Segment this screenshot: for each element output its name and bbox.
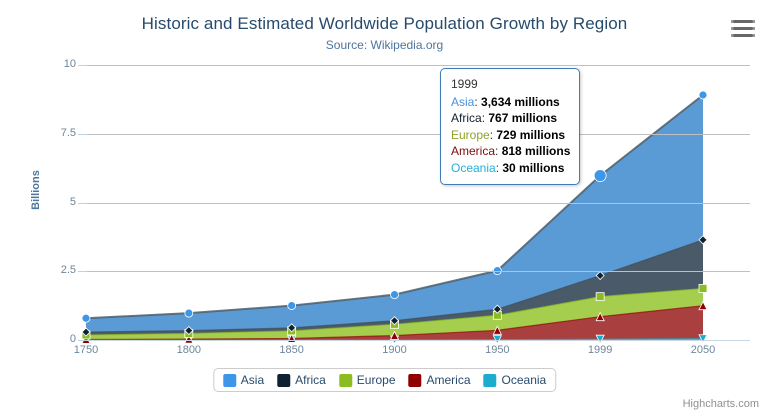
tooltip-row-africa: Africa: 767 millions bbox=[451, 110, 570, 127]
tooltip-row-america: America: 818 millions bbox=[451, 143, 570, 160]
tooltip-series-value: 818 millions bbox=[502, 144, 571, 158]
tooltip-header: 1999 bbox=[451, 76, 570, 93]
point-europe-2050[interactable] bbox=[699, 284, 707, 292]
gridline-y-7.5 bbox=[86, 134, 750, 135]
tooltip-series-name: America bbox=[451, 144, 495, 158]
y-axis-tick bbox=[78, 134, 87, 135]
tooltip-series-name: Asia bbox=[451, 95, 474, 109]
menu-bar-2 bbox=[733, 27, 753, 30]
tooltip-row-oceania: Oceania: 30 millions bbox=[451, 160, 570, 177]
y-axis-tick bbox=[78, 203, 87, 204]
point-asia-2050[interactable] bbox=[699, 91, 707, 99]
point-europe-1999[interactable] bbox=[596, 293, 604, 301]
legend-item-europe[interactable]: Europe bbox=[339, 373, 396, 387]
y-axis-label-2.5: 2.5 bbox=[28, 264, 76, 276]
x-axis-line bbox=[86, 340, 750, 341]
legend-swatch-america bbox=[409, 374, 422, 387]
x-axis-label-1750: 1750 bbox=[56, 344, 116, 356]
legend-label: Africa bbox=[295, 373, 326, 387]
legend: AsiaAfricaEuropeAmericaOceania bbox=[213, 368, 556, 392]
legend-label: Europe bbox=[357, 373, 396, 387]
point-asia-1750[interactable] bbox=[82, 314, 90, 322]
y-axis-label-7.5: 7.5 bbox=[28, 127, 76, 139]
gridline-y-10 bbox=[86, 65, 750, 66]
legend-item-africa[interactable]: Africa bbox=[277, 373, 326, 387]
gridline-y-2.5 bbox=[86, 271, 750, 272]
x-axis-label-1950: 1950 bbox=[467, 344, 527, 356]
legend-item-oceania[interactable]: Oceania bbox=[484, 373, 547, 387]
gridline-y-5 bbox=[86, 203, 750, 204]
tooltip-separator: : bbox=[474, 95, 481, 109]
highcharts-container: Historic and Estimated Worldwide Populat… bbox=[0, 0, 769, 416]
tooltip-series-name: Europe bbox=[451, 128, 490, 142]
y-axis-tick bbox=[78, 65, 87, 66]
legend-swatch-africa bbox=[277, 374, 290, 387]
x-axis-label-1900: 1900 bbox=[365, 344, 425, 356]
tooltip-series-value: 3,634 millions bbox=[481, 95, 560, 109]
point-asia-1999[interactable] bbox=[594, 170, 606, 182]
tooltip-series-value: 729 millions bbox=[496, 128, 565, 142]
tooltip-row-asia: Asia: 3,634 millions bbox=[451, 94, 570, 111]
tooltip-rows: Asia: 3,634 millionsAfrica: 767 millions… bbox=[451, 94, 570, 177]
legend-swatch-asia bbox=[223, 374, 236, 387]
legend-label: Oceania bbox=[502, 373, 547, 387]
legend-label: Asia bbox=[241, 373, 264, 387]
point-asia-1900[interactable] bbox=[391, 291, 399, 299]
legend-swatch-europe bbox=[339, 374, 352, 387]
x-axis-label-2050: 2050 bbox=[673, 344, 733, 356]
x-axis-label-1800: 1800 bbox=[159, 344, 219, 356]
x-axis-label-1850: 1850 bbox=[262, 344, 322, 356]
hamburger-menu-icon[interactable] bbox=[731, 17, 755, 39]
plot-area bbox=[86, 65, 750, 340]
tooltip-separator: : bbox=[495, 144, 502, 158]
y-axis-tick bbox=[78, 271, 87, 272]
x-axis-label-1999: 1999 bbox=[570, 344, 630, 356]
legend-item-america[interactable]: America bbox=[409, 373, 471, 387]
y-axis-label-5: 5 bbox=[28, 196, 76, 208]
y-axis-title: Billions bbox=[30, 145, 42, 235]
legend-label: America bbox=[427, 373, 471, 387]
tooltip-series-name: Africa bbox=[451, 111, 482, 125]
tooltip: 1999 Asia: 3,634 millionsAfrica: 767 mil… bbox=[440, 68, 580, 185]
legend-item-asia[interactable]: Asia bbox=[223, 373, 264, 387]
tooltip-series-name: Oceania bbox=[451, 161, 496, 175]
tooltip-row-europe: Europe: 729 millions bbox=[451, 127, 570, 144]
menu-bar-3 bbox=[733, 34, 753, 37]
tooltip-series-value: 30 millions bbox=[502, 161, 564, 175]
chart-title: Historic and Estimated Worldwide Populat… bbox=[0, 14, 769, 34]
chart-subtitle: Source: Wikipedia.org bbox=[0, 38, 769, 52]
y-axis-tick bbox=[78, 340, 87, 341]
point-asia-1800[interactable] bbox=[185, 309, 193, 317]
menu-bar-1 bbox=[733, 20, 753, 23]
legend-swatch-oceania bbox=[484, 374, 497, 387]
y-axis-label-10: 10 bbox=[28, 58, 76, 70]
point-asia-1850[interactable] bbox=[288, 302, 296, 310]
credits-link[interactable]: Highcharts.com bbox=[683, 398, 759, 410]
tooltip-series-value: 767 millions bbox=[488, 111, 557, 125]
